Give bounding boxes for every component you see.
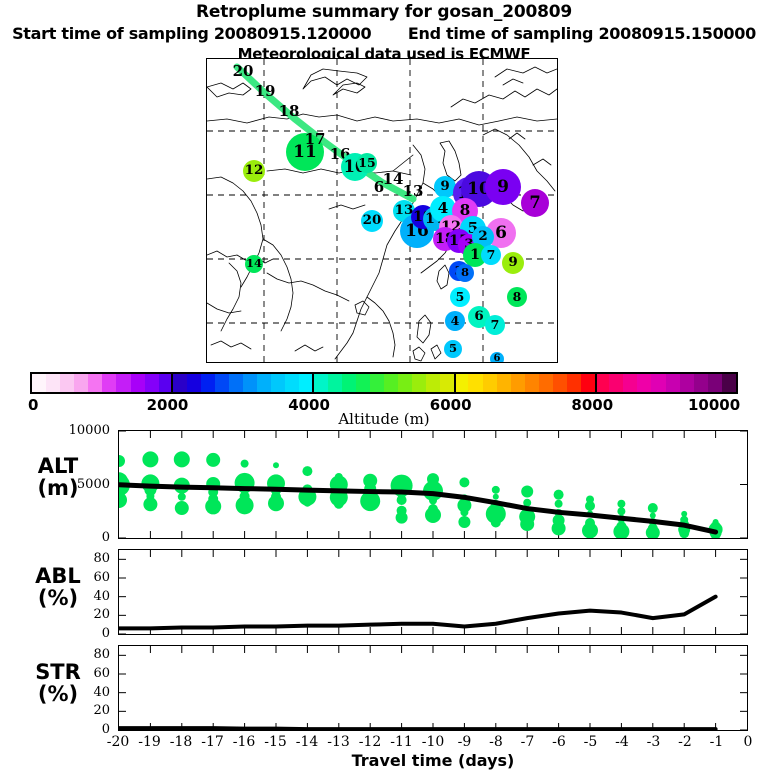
- alt-ytick-10000: 10000: [38, 423, 110, 438]
- plume-marker: 9: [502, 252, 524, 274]
- colorbar-band-30: [454, 374, 468, 392]
- plume-marker: 5: [444, 340, 462, 358]
- map-coastlines: [207, 59, 557, 362]
- retroplume-map: 2019181117121610151461314209111097131619…: [206, 58, 558, 363]
- alt-ytick-5000: 5000: [38, 477, 110, 492]
- colorbar-band-40: [595, 374, 609, 392]
- colorbar-band-10: [173, 374, 187, 392]
- colorbar-band-33: [497, 374, 511, 392]
- colorbar-band-3: [74, 374, 88, 392]
- colorbar-band-43: [637, 374, 651, 392]
- str-ytick-80: 80: [38, 647, 110, 662]
- plume-marker: 7: [481, 245, 501, 265]
- colorbar-band-36: [539, 374, 553, 392]
- plume-marker: 15: [357, 153, 377, 173]
- colorbar-band-38: [567, 374, 581, 392]
- colorbar-band-46: [680, 374, 694, 392]
- colorbar-band-48: [708, 374, 722, 392]
- colorbar-band-17: [271, 374, 285, 392]
- plume-marker: 19: [258, 84, 272, 98]
- colorbar-band-35: [525, 374, 539, 392]
- colorbar-band-26: [398, 374, 412, 392]
- end-time-label: End time of sampling 20080915.150000: [408, 24, 756, 43]
- colorbar-band-47: [694, 374, 708, 392]
- abl-ytick-40: 40: [38, 589, 110, 604]
- abl-ytick-20: 20: [38, 607, 110, 622]
- colorbar-band-0: [32, 374, 46, 392]
- colorbar-band-32: [483, 374, 497, 392]
- abl-ytick-60: 60: [38, 570, 110, 585]
- altitude-colorbar: [30, 372, 738, 394]
- colorbar-band-31: [468, 374, 482, 392]
- start-time-label: Start time of sampling 20080915.120000: [12, 24, 371, 43]
- colorbar-band-22: [342, 374, 356, 392]
- plume-marker: 20: [361, 210, 383, 232]
- colorbar-band-23: [356, 374, 370, 392]
- plume-marker: 13: [406, 184, 420, 198]
- colorbar-band-14: [229, 374, 243, 392]
- colorbar-band-24: [370, 374, 384, 392]
- plume-marker: 14: [245, 255, 263, 273]
- colorbar-band-20: [314, 374, 328, 392]
- xaxis-title: Travel time (days): [118, 751, 748, 770]
- colorbar-band-39: [581, 374, 595, 392]
- colorbar-band-13: [215, 374, 229, 392]
- colorbar-band-37: [553, 374, 567, 392]
- colorbar-band-49: [722, 374, 736, 392]
- colorbar-band-25: [384, 374, 398, 392]
- altitude-plot: [119, 431, 747, 538]
- str-ytick-20: 20: [38, 703, 110, 718]
- altitude-panel: [118, 430, 748, 539]
- plume-marker: 17: [308, 132, 322, 146]
- abl-ytick-0: 0: [38, 626, 110, 641]
- plume-marker: 20: [236, 64, 250, 78]
- sampling-time-line: Start time of sampling 20080915.120000 E…: [0, 24, 768, 43]
- colorbar-band-45: [666, 374, 680, 392]
- colorbar-band-21: [328, 374, 342, 392]
- plume-marker: 14: [386, 172, 400, 186]
- colorbar-band-5: [102, 374, 116, 392]
- colorbar-band-4: [88, 374, 102, 392]
- colorbar-title: Altitude (m): [0, 410, 768, 428]
- plume-marker: 5: [450, 287, 470, 307]
- colorbar-band-1: [46, 374, 60, 392]
- colorbar-band-16: [257, 374, 271, 392]
- colorbar-band-12: [201, 374, 215, 392]
- colorbar-band-28: [426, 374, 440, 392]
- colorbar-band-42: [623, 374, 637, 392]
- plume-marker: 4: [445, 311, 465, 331]
- colorbar-band-8: [145, 374, 159, 392]
- str-panel: [118, 645, 748, 731]
- str-ytick-60: 60: [38, 666, 110, 681]
- str-plot: [119, 646, 747, 730]
- colorbar-band-6: [116, 374, 130, 392]
- colorbar-band-41: [609, 374, 623, 392]
- plume-marker: 7: [485, 315, 505, 335]
- abl-ytick-80: 80: [38, 551, 110, 566]
- plume-marker: 12: [243, 160, 265, 182]
- colorbar-band-15: [243, 374, 257, 392]
- alt-ytick-0: 0: [38, 530, 110, 545]
- abl-panel: [118, 549, 748, 635]
- colorbar-band-18: [285, 374, 299, 392]
- plume-marker: 7: [521, 189, 549, 217]
- xtick-0: 0: [728, 734, 768, 750]
- plume-marker: 8: [507, 287, 527, 307]
- plume-marker: 9: [485, 169, 521, 205]
- plume-marker: 6: [372, 180, 386, 194]
- colorbar-band-11: [187, 374, 201, 392]
- colorbar-band-29: [440, 374, 454, 392]
- colorbar-band-7: [131, 374, 145, 392]
- colorbar-band-44: [651, 374, 665, 392]
- str-ytick-40: 40: [38, 685, 110, 700]
- page-title: Retroplume summary for gosan_200809: [0, 2, 768, 22]
- colorbar-band-27: [412, 374, 426, 392]
- plume-marker: 18: [282, 104, 296, 118]
- colorbar-band-34: [511, 374, 525, 392]
- plume-marker: 6: [490, 352, 504, 363]
- plume-marker: 8: [456, 264, 474, 282]
- abl-plot: [119, 550, 747, 634]
- colorbar-band-2: [60, 374, 74, 392]
